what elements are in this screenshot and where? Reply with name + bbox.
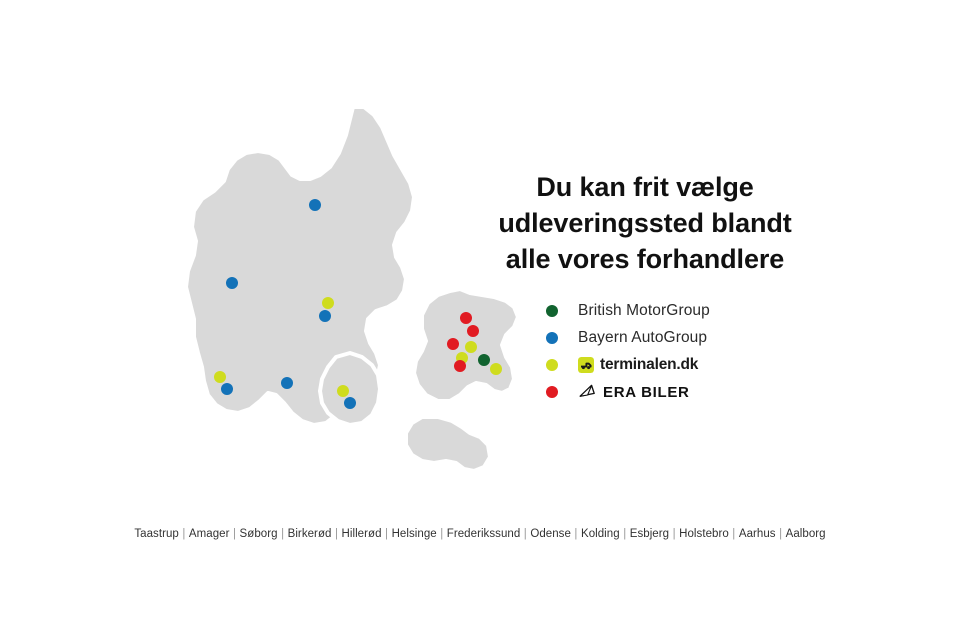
city-separator: | <box>437 528 447 540</box>
map-region-fyn <box>320 353 380 425</box>
terminalen-logo-icon <box>578 357 594 373</box>
dot-icon <box>546 386 558 398</box>
city-separator: | <box>179 528 189 540</box>
city-separator: | <box>620 528 630 540</box>
map-dot-odense-bayern[interactable] <box>344 397 356 409</box>
era-biler-logo: ERA BILER <box>578 384 690 401</box>
map-dot-helsinge[interactable] <box>460 312 472 324</box>
legend-item-terminalen[interactable]: terminalen.dk <box>546 352 846 378</box>
era-biler-wordmark: ERA BILER <box>603 384 690 401</box>
city-list: Taastrup|Amager|Søborg|Birkerød|Hillerød… <box>0 528 960 540</box>
city-name: Kolding <box>581 528 620 540</box>
map-regions <box>186 107 518 471</box>
terminalen-wordmark: terminalen.dk <box>600 356 698 374</box>
city-name: Holstebro <box>679 528 729 540</box>
page-title-line: alle vores forhandlere <box>455 242 835 278</box>
city-name: Aarhus <box>739 528 776 540</box>
dot-icon <box>546 305 558 317</box>
dot-icon <box>546 332 558 344</box>
map-dot-odense-term[interactable] <box>337 385 349 397</box>
page-title: Du kan frit vælgeudleveringssted blandta… <box>455 170 835 278</box>
city-name: Aalborg <box>786 528 826 540</box>
map-dot-taastrup[interactable] <box>454 360 466 372</box>
city-separator: | <box>278 528 288 540</box>
city-separator: | <box>776 528 786 540</box>
map-dot-amager-bmg[interactable] <box>478 354 490 366</box>
city-separator: | <box>520 528 530 540</box>
city-name: Hillerød <box>342 528 382 540</box>
map-dot-aalborg[interactable] <box>309 199 321 211</box>
city-separator: | <box>230 528 240 540</box>
map-dot-birkerod[interactable] <box>465 341 477 353</box>
denmark-map-container <box>150 95 540 505</box>
map-dot-aarhus-bayern[interactable] <box>319 310 331 322</box>
map-dot-kolding[interactable] <box>281 377 293 389</box>
map-region-lolland-falster <box>406 417 490 471</box>
page-title-line: udleveringssted blandt <box>455 206 835 242</box>
map-dot-hillerod[interactable] <box>467 325 479 337</box>
legend-label: British MotorGroup <box>578 302 710 320</box>
poster-canvas: Du kan frit vælgeudleveringssted blandta… <box>0 0 960 640</box>
city-name: Frederikssund <box>447 528 521 540</box>
legend-item-bayern-autogroup[interactable]: Bayern AutoGroup <box>546 325 846 351</box>
city-separator: | <box>571 528 581 540</box>
city-name: Amager <box>189 528 230 540</box>
page-title-line: Du kan frit vælge <box>455 170 835 206</box>
city-name: Esbjerg <box>630 528 669 540</box>
legend-item-era-biler[interactable]: ERA BILER <box>546 379 846 405</box>
map-dot-esbjerg-term[interactable] <box>214 371 226 383</box>
map-dot-holstebro[interactable] <box>226 277 238 289</box>
city-name: Helsinge <box>392 528 437 540</box>
city-name: Odense <box>530 528 571 540</box>
terminalen-logo: terminalen.dk <box>578 356 698 374</box>
legend-item-british-motorgroup[interactable]: British MotorGroup <box>546 298 846 324</box>
denmark-map-svg <box>150 95 540 505</box>
map-dot-aarhus-term[interactable] <box>322 297 334 309</box>
city-name: Birkerød <box>288 528 332 540</box>
city-separator: | <box>331 528 341 540</box>
dot-icon <box>546 359 558 371</box>
city-separator: | <box>729 528 739 540</box>
city-name: Søborg <box>240 528 278 540</box>
legend-label: Bayern AutoGroup <box>578 329 707 347</box>
legend: British MotorGroup Bayern AutoGroup term… <box>546 298 846 406</box>
map-dot-esbjerg-bayern[interactable] <box>221 383 233 395</box>
city-separator: | <box>669 528 679 540</box>
era-biler-logo-icon <box>578 384 598 400</box>
city-name: Taastrup <box>134 528 179 540</box>
city-separator: | <box>382 528 392 540</box>
map-dot-amager-term[interactable] <box>490 363 502 375</box>
map-dot-frederikssund[interactable] <box>447 338 459 350</box>
